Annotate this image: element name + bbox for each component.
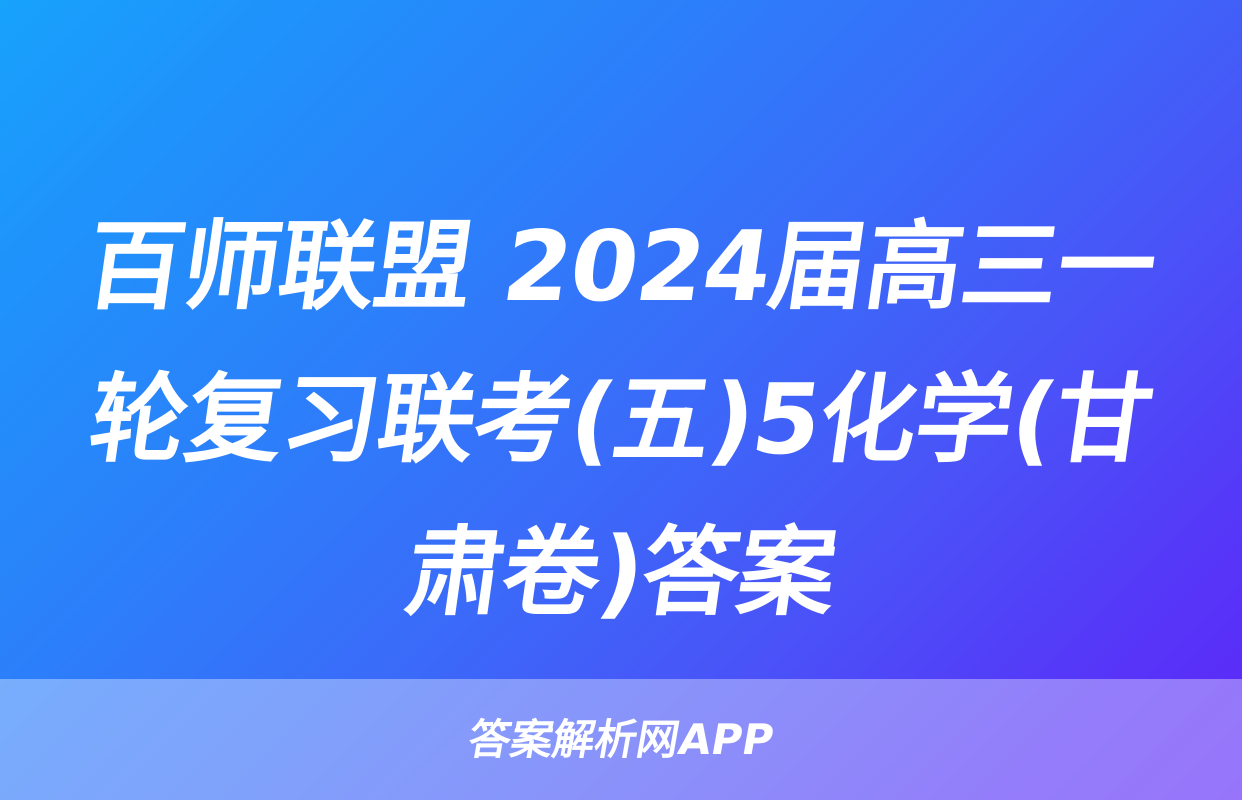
- title-line-2: 轮复习联考(五)5化学(甘: [55, 343, 1187, 496]
- title-line-1: 百师联盟 2024届高三一: [55, 190, 1187, 343]
- title-line-3: 肃卷)答案: [55, 496, 1187, 649]
- watermark-bar: 答案解析网APP: [0, 679, 1242, 800]
- watermark-app-label: 答案解析网APP: [465, 719, 776, 761]
- page-title: 百师联盟 2024届高三一 轮复习联考(五)5化学(甘 肃卷)答案: [0, 190, 1242, 649]
- answer-poster-card: 百师联盟 2024届高三一 轮复习联考(五)5化学(甘 肃卷)答案 答案解析网A…: [0, 0, 1242, 800]
